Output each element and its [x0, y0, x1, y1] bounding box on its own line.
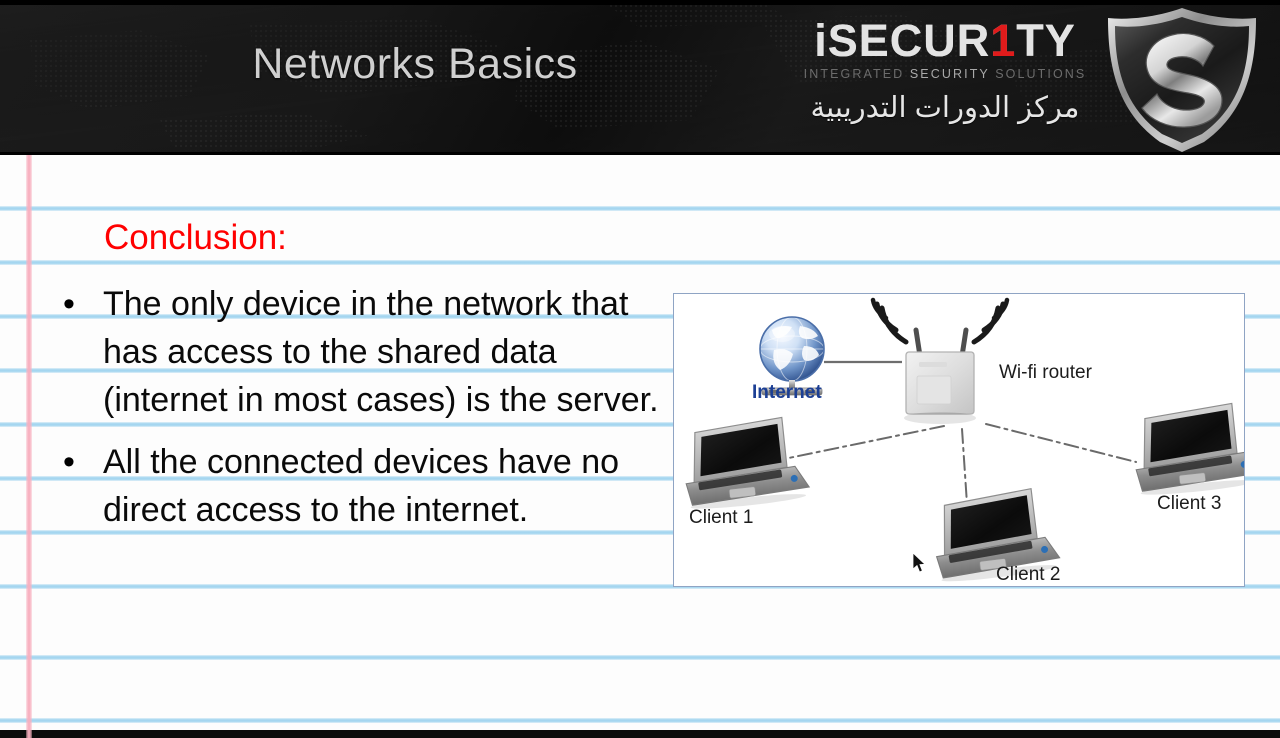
header-bottom-edge: [0, 152, 1280, 155]
mouse-cursor: [912, 552, 928, 574]
brand-wordmark-one: 1: [990, 15, 1016, 66]
bullet-marker: •: [55, 280, 103, 328]
wifi-router-label: Wi-fi router: [999, 362, 1092, 384]
shield-icon: [1098, 2, 1266, 154]
brand-tagline: INTEGRATED SECURITY SOLUTIONS: [795, 67, 1095, 81]
list-item: • The only device in the network that ha…: [55, 280, 665, 424]
conclusion-heading: Conclusion:: [104, 218, 287, 258]
list-item: • All the connected devices have no dire…: [55, 438, 665, 534]
client-1-laptop-icon: [680, 415, 810, 511]
slide: Networks Basics iSECUR1TY INTEGRATED SEC…: [0, 0, 1280, 738]
brand-tagline-part2: SECURITY: [910, 67, 990, 81]
network-diagram: Internet Wi-fi router Client 1 Client 2 …: [673, 293, 1245, 587]
client-1-label: Client 1: [689, 507, 753, 529]
brand-arabic-subtitle: مركز الدورات التدريبية: [795, 90, 1095, 125]
bullet-marker: •: [55, 438, 103, 486]
slide-header: Networks Basics iSECUR1TY INTEGRATED SEC…: [0, 0, 1280, 155]
page-title: Networks Basics: [0, 40, 830, 89]
bullet-text: The only device in the network that has …: [103, 280, 665, 424]
bullet-text: All the connected devices have no direct…: [103, 438, 665, 534]
header-top-edge: [0, 0, 1280, 5]
brand-wordmark-post: TY: [1016, 15, 1076, 66]
bullet-list: • The only device in the network that ha…: [55, 280, 665, 548]
bottom-bar: [0, 730, 1280, 738]
client-3-laptop-icon: [1130, 401, 1244, 497]
brand-wordmark-pre: iSECUR: [814, 15, 990, 66]
paper-rule-line: [0, 655, 1280, 660]
client-3-label: Client 3: [1157, 493, 1221, 515]
brand-logo: iSECUR1TY INTEGRATED SECURITY SOLUTIONS …: [795, 18, 1095, 125]
paper-rule-line: [0, 718, 1280, 723]
paper-rule-line: [0, 260, 1280, 265]
brand-wordmark: iSECUR1TY: [795, 18, 1095, 63]
client-2-label: Client 2: [996, 564, 1060, 586]
paper-margin-line: [26, 155, 32, 738]
network-diagram-svg: [674, 294, 1244, 586]
brand-tagline-part1: INTEGRATED: [804, 67, 910, 81]
paper-rule-line: [0, 206, 1280, 211]
internet-label: Internet: [752, 382, 822, 404]
brand-tagline-part3: SOLUTIONS: [990, 67, 1087, 81]
